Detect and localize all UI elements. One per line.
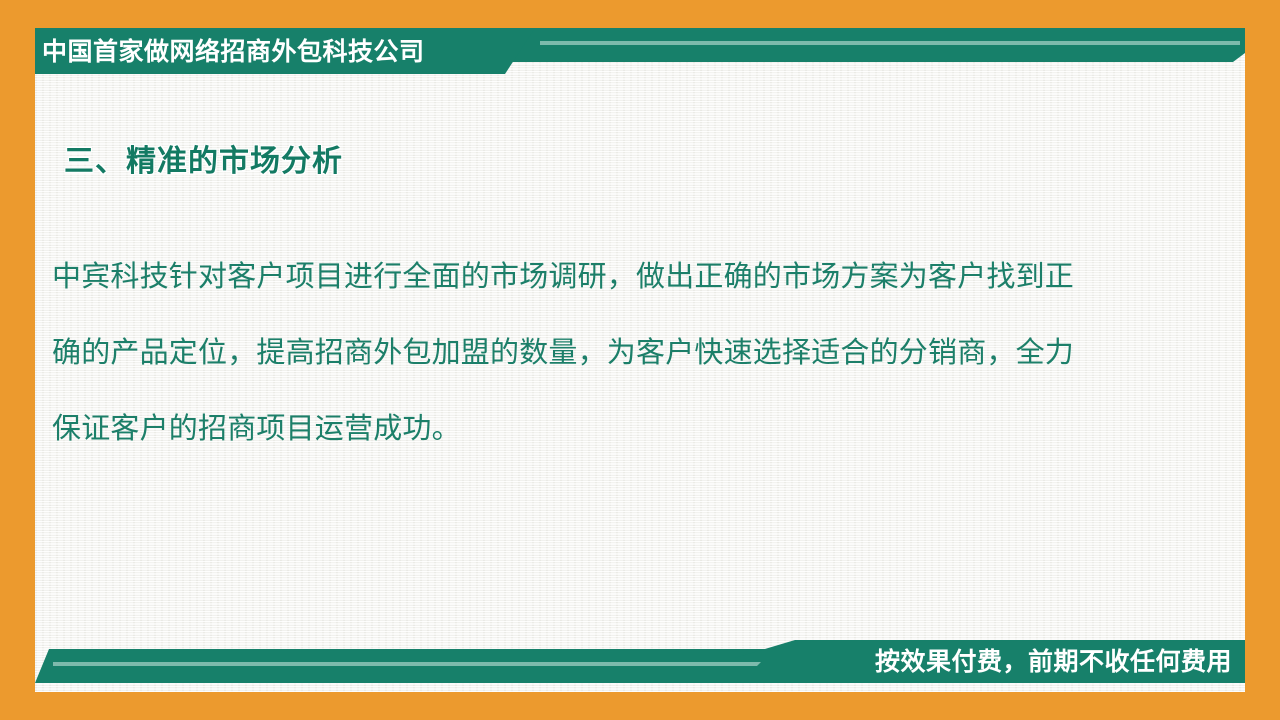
slide-root: 中国首家做网络招商外包科技公司 按效果付费，前期不收任何费用 三、精准的市场分析… (0, 0, 1280, 720)
header-title: 中国首家做网络招商外包科技公司 (42, 34, 425, 70)
body-paragraph: 中宾科技针对客户项目进行全面的市场调研，做出正确的市场方案为客户找到正 确的产品… (52, 238, 1192, 466)
paragraph-line: 确的产品定位，提高招商外包加盟的数量，为客户快速选择适合的分销商，全力 (52, 314, 1192, 390)
section-heading: 三、精准的市场分析 (64, 120, 1192, 180)
paragraph-line: 中宾科技针对客户项目进行全面的市场调研，做出正确的市场方案为客户找到正 (52, 238, 1192, 314)
paragraph-line: 保证客户的招商项目运营成功。 (52, 390, 1192, 466)
footer-slogan: 按效果付费，前期不收任何费用 (875, 645, 1232, 679)
slide-content: 三、精准的市场分析 中宾科技针对客户项目进行全面的市场调研，做出正确的市场方案为… (52, 120, 1192, 466)
